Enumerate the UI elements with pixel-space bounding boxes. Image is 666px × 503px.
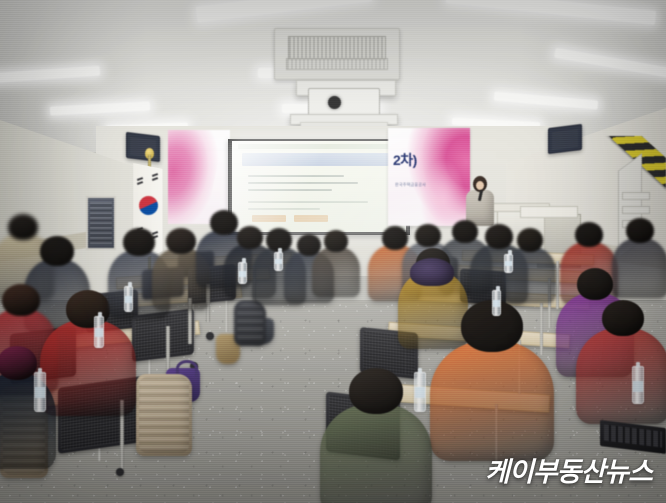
water-bottle-3 — [124, 286, 133, 312]
attendee-left-6-head — [166, 228, 196, 254]
bottle-label — [415, 387, 425, 398]
chair-caster — [116, 468, 124, 476]
event-banner-right: 2차) 한국주택금융공사 — [388, 128, 470, 226]
coat-on-chair — [136, 374, 192, 456]
attendee-left-3-head — [2, 284, 40, 316]
attendee-left-10 — [0, 346, 56, 476]
water-bottle-8 — [632, 366, 644, 404]
attendee-right-10-head — [602, 300, 644, 336]
banner-swirl-highlight — [420, 158, 466, 226]
bottle-label — [505, 261, 512, 266]
ac-louver — [286, 58, 388, 70]
attendee-left-2-head — [40, 236, 74, 266]
watermark-text: 케이부동산뉴스 — [485, 450, 652, 489]
bottle-label — [95, 328, 103, 337]
water-bottle-1 — [34, 372, 46, 412]
banner-title-text: 2차) — [393, 150, 417, 170]
attendee-right-9-head — [577, 268, 613, 300]
ac-grille — [288, 36, 386, 60]
water-bottle-7 — [492, 290, 501, 316]
whiteboard-rail — [520, 206, 578, 218]
bottle-label — [275, 259, 282, 264]
attendee-right-7-head — [626, 218, 654, 243]
projection-screen — [232, 141, 406, 232]
attendee-front-left-head — [349, 368, 403, 414]
projector-lens-icon — [328, 96, 341, 109]
wall-speaker-right — [548, 124, 582, 154]
chair-caster — [206, 332, 214, 340]
attendee-left-10-torso — [0, 373, 56, 469]
attendee-with-beret — [410, 258, 454, 286]
attendee-front-center — [430, 300, 554, 472]
attendee-right-10 — [576, 300, 666, 432]
water-bottle-4 — [238, 262, 247, 284]
attendee-mid-2 — [312, 230, 360, 302]
water-bottle-9 — [504, 254, 513, 273]
attendee-right-10-torso — [576, 328, 666, 424]
stair-step — [622, 192, 650, 200]
bottle-label — [35, 387, 45, 398]
water-bottle-6 — [414, 372, 426, 412]
screen-glare — [232, 141, 406, 232]
attendee-mid-2-torso — [312, 247, 360, 297]
attendee-mid-2-head — [324, 230, 348, 252]
attendee-right-6-head — [575, 222, 603, 247]
seminar-room-photograph: 2차) 한국주택금융공사 — [0, 0, 666, 503]
attendee-left-10-head — [0, 346, 37, 380]
attendee-front-center-torso — [430, 341, 554, 461]
attendee-right-5-head — [517, 228, 543, 252]
stair-step — [622, 206, 650, 214]
water-bottle-2 — [94, 316, 104, 348]
attendee-front-left-torso — [320, 404, 432, 503]
wall-speaker-left — [126, 132, 160, 162]
attendee-left-5-head — [123, 228, 155, 256]
bottle-label — [493, 300, 500, 307]
bottle-label — [239, 271, 246, 277]
presenter-face — [476, 181, 484, 190]
bottle-label — [125, 296, 132, 303]
banner-subtitle-text: 한국주택금융공사 — [395, 182, 426, 188]
water-bottle-5 — [274, 252, 283, 271]
bottle-label — [633, 381, 643, 392]
